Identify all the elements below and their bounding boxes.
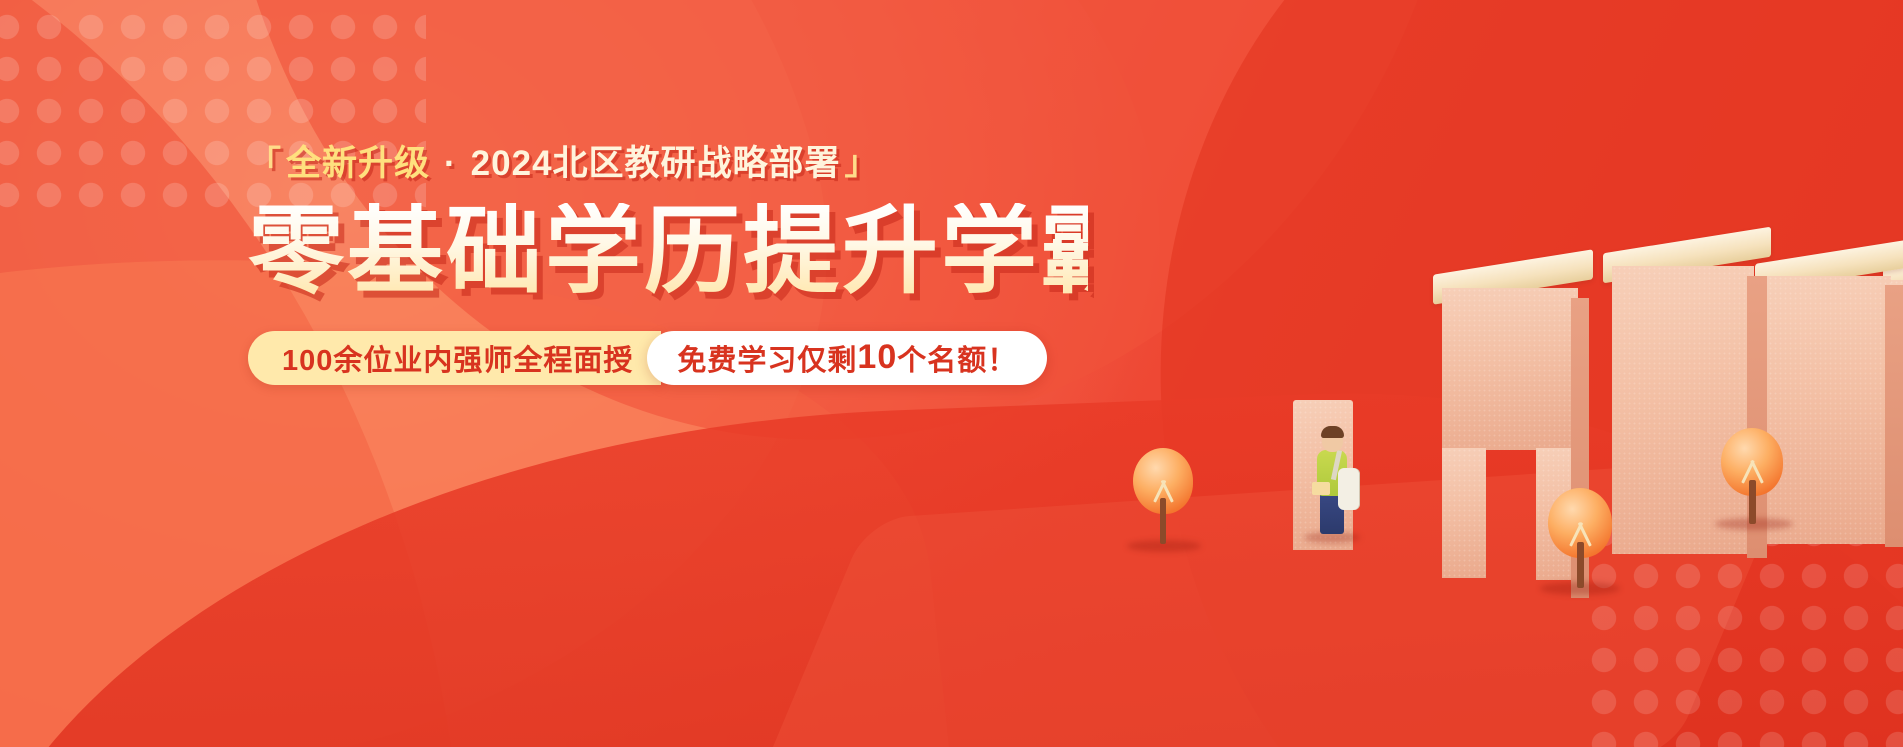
- figure-book: [1312, 482, 1330, 495]
- subtitle-separator: ·: [434, 146, 467, 181]
- subtitle-line: 「 全新升级 · 2024北区教研战略部署 」: [248, 146, 1088, 181]
- tree-middle: [1548, 488, 1618, 598]
- tree-trunk: [1749, 480, 1756, 524]
- tree-right: [1721, 428, 1791, 538]
- bracket-close: 」: [845, 146, 879, 179]
- headline-title: 零基础学历提升学霸班: [248, 203, 1088, 301]
- bracket-open: 「: [248, 146, 282, 179]
- badge-row: 100余位业内强师全程面授 免费学习仅剩 10 个名额！: [248, 331, 1088, 385]
- badge-free-number: 10: [857, 338, 897, 377]
- subtitle-highlight: 全新升级: [286, 146, 430, 181]
- arch-pillar-left: [1442, 448, 1486, 578]
- student-figure: [1306, 424, 1376, 544]
- tree-left: [1133, 448, 1203, 558]
- figure-hair: [1321, 426, 1344, 438]
- text-content: 「 全新升级 · 2024北区教研战略部署 」 零基础学历提升学霸班 100余位…: [248, 146, 1088, 385]
- arch-side: [1885, 285, 1903, 547]
- badge-free-prefix: 免费学习仅剩: [677, 337, 857, 379]
- figure-bag: [1338, 468, 1360, 510]
- arch-face: [1442, 288, 1578, 450]
- tree-trunk: [1160, 498, 1166, 544]
- illustration-group: [1043, 0, 1903, 747]
- badge-free-suffix: 个名额！: [897, 337, 1017, 379]
- promo-banner: 「 全新升级 · 2024北区教研战略部署 」 零基础学历提升学霸班 100余位…: [0, 0, 1903, 747]
- badge-free-slots[interactable]: 免费学习仅剩 10 个名额！: [647, 331, 1047, 385]
- badge-instructors[interactable]: 100余位业内强师全程面授: [248, 331, 661, 385]
- subtitle-rest: 2024北区教研战略部署: [471, 146, 841, 181]
- tree-trunk: [1577, 542, 1584, 588]
